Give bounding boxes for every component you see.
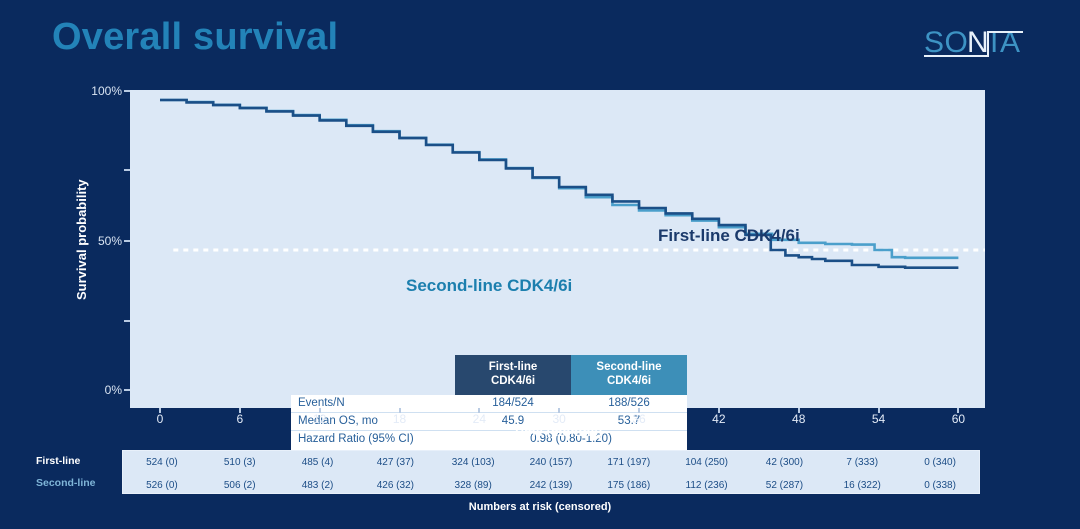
table-row: 524 (0)510 (3)485 (4)427 (37)324 (103)24… bbox=[123, 451, 979, 474]
slide-canvas: Overall survival SO N I A Survival proba… bbox=[0, 0, 1080, 529]
risk-cell-r1-c1: 506 (2) bbox=[201, 474, 279, 497]
risk-cell-r1-c4: 328 (89) bbox=[434, 474, 512, 497]
risk-cell-r0-c6: 171 (197) bbox=[590, 451, 668, 474]
x-axis-label: Time (months) bbox=[130, 424, 985, 439]
table-row: 526 (0)506 (2)483 (2)426 (32)328 (89)242… bbox=[123, 474, 979, 497]
risk-row-label-first: First-line bbox=[36, 450, 122, 472]
risk-cell-r1-c0: 526 (0) bbox=[123, 474, 201, 497]
risk-cell-r1-c3: 426 (32) bbox=[356, 474, 434, 497]
risk-cell-r0-c0: 524 (0) bbox=[123, 451, 201, 474]
numbers-at-risk-caption: Numbers at risk (censored) bbox=[0, 501, 1080, 513]
risk-cell-r0-c1: 510 (3) bbox=[201, 451, 279, 474]
risk-cell-r0-c9: 7 (333) bbox=[823, 451, 901, 474]
risk-cell-r1-c6: 175 (186) bbox=[590, 474, 668, 497]
risk-cell-r1-c10: 0 (338) bbox=[901, 474, 979, 497]
risk-cell-r0-c3: 427 (37) bbox=[356, 451, 434, 474]
risk-cell-r0-c8: 42 (300) bbox=[746, 451, 824, 474]
risk-cell-r0-c5: 240 (157) bbox=[512, 451, 590, 474]
risk-cell-r0-c10: 0 (340) bbox=[901, 451, 979, 474]
risk-cell-r1-c5: 242 (139) bbox=[512, 474, 590, 497]
numbers-at-risk-grid: 524 (0)510 (3)485 (4)427 (37)324 (103)24… bbox=[123, 451, 979, 497]
numbers-at-risk-table: 524 (0)510 (3)485 (4)427 (37)324 (103)24… bbox=[122, 450, 980, 494]
risk-cell-r1-c7: 112 (236) bbox=[668, 474, 746, 497]
risk-cell-r0-c2: 485 (4) bbox=[279, 451, 357, 474]
risk-cell-r0-c7: 104 (250) bbox=[668, 451, 746, 474]
risk-cell-r1-c8: 52 (287) bbox=[746, 474, 824, 497]
risk-cell-r0-c4: 324 (103) bbox=[434, 451, 512, 474]
risk-cell-r1-c9: 16 (322) bbox=[823, 474, 901, 497]
risk-cell-r1-c2: 483 (2) bbox=[279, 474, 357, 497]
risk-row-label-second: Second-line bbox=[36, 472, 122, 494]
numbers-at-risk-labels: First-line Second-line bbox=[36, 450, 122, 494]
numbers-at-risk: First-line Second-line 524 (0)510 (3)485… bbox=[0, 450, 1080, 495]
